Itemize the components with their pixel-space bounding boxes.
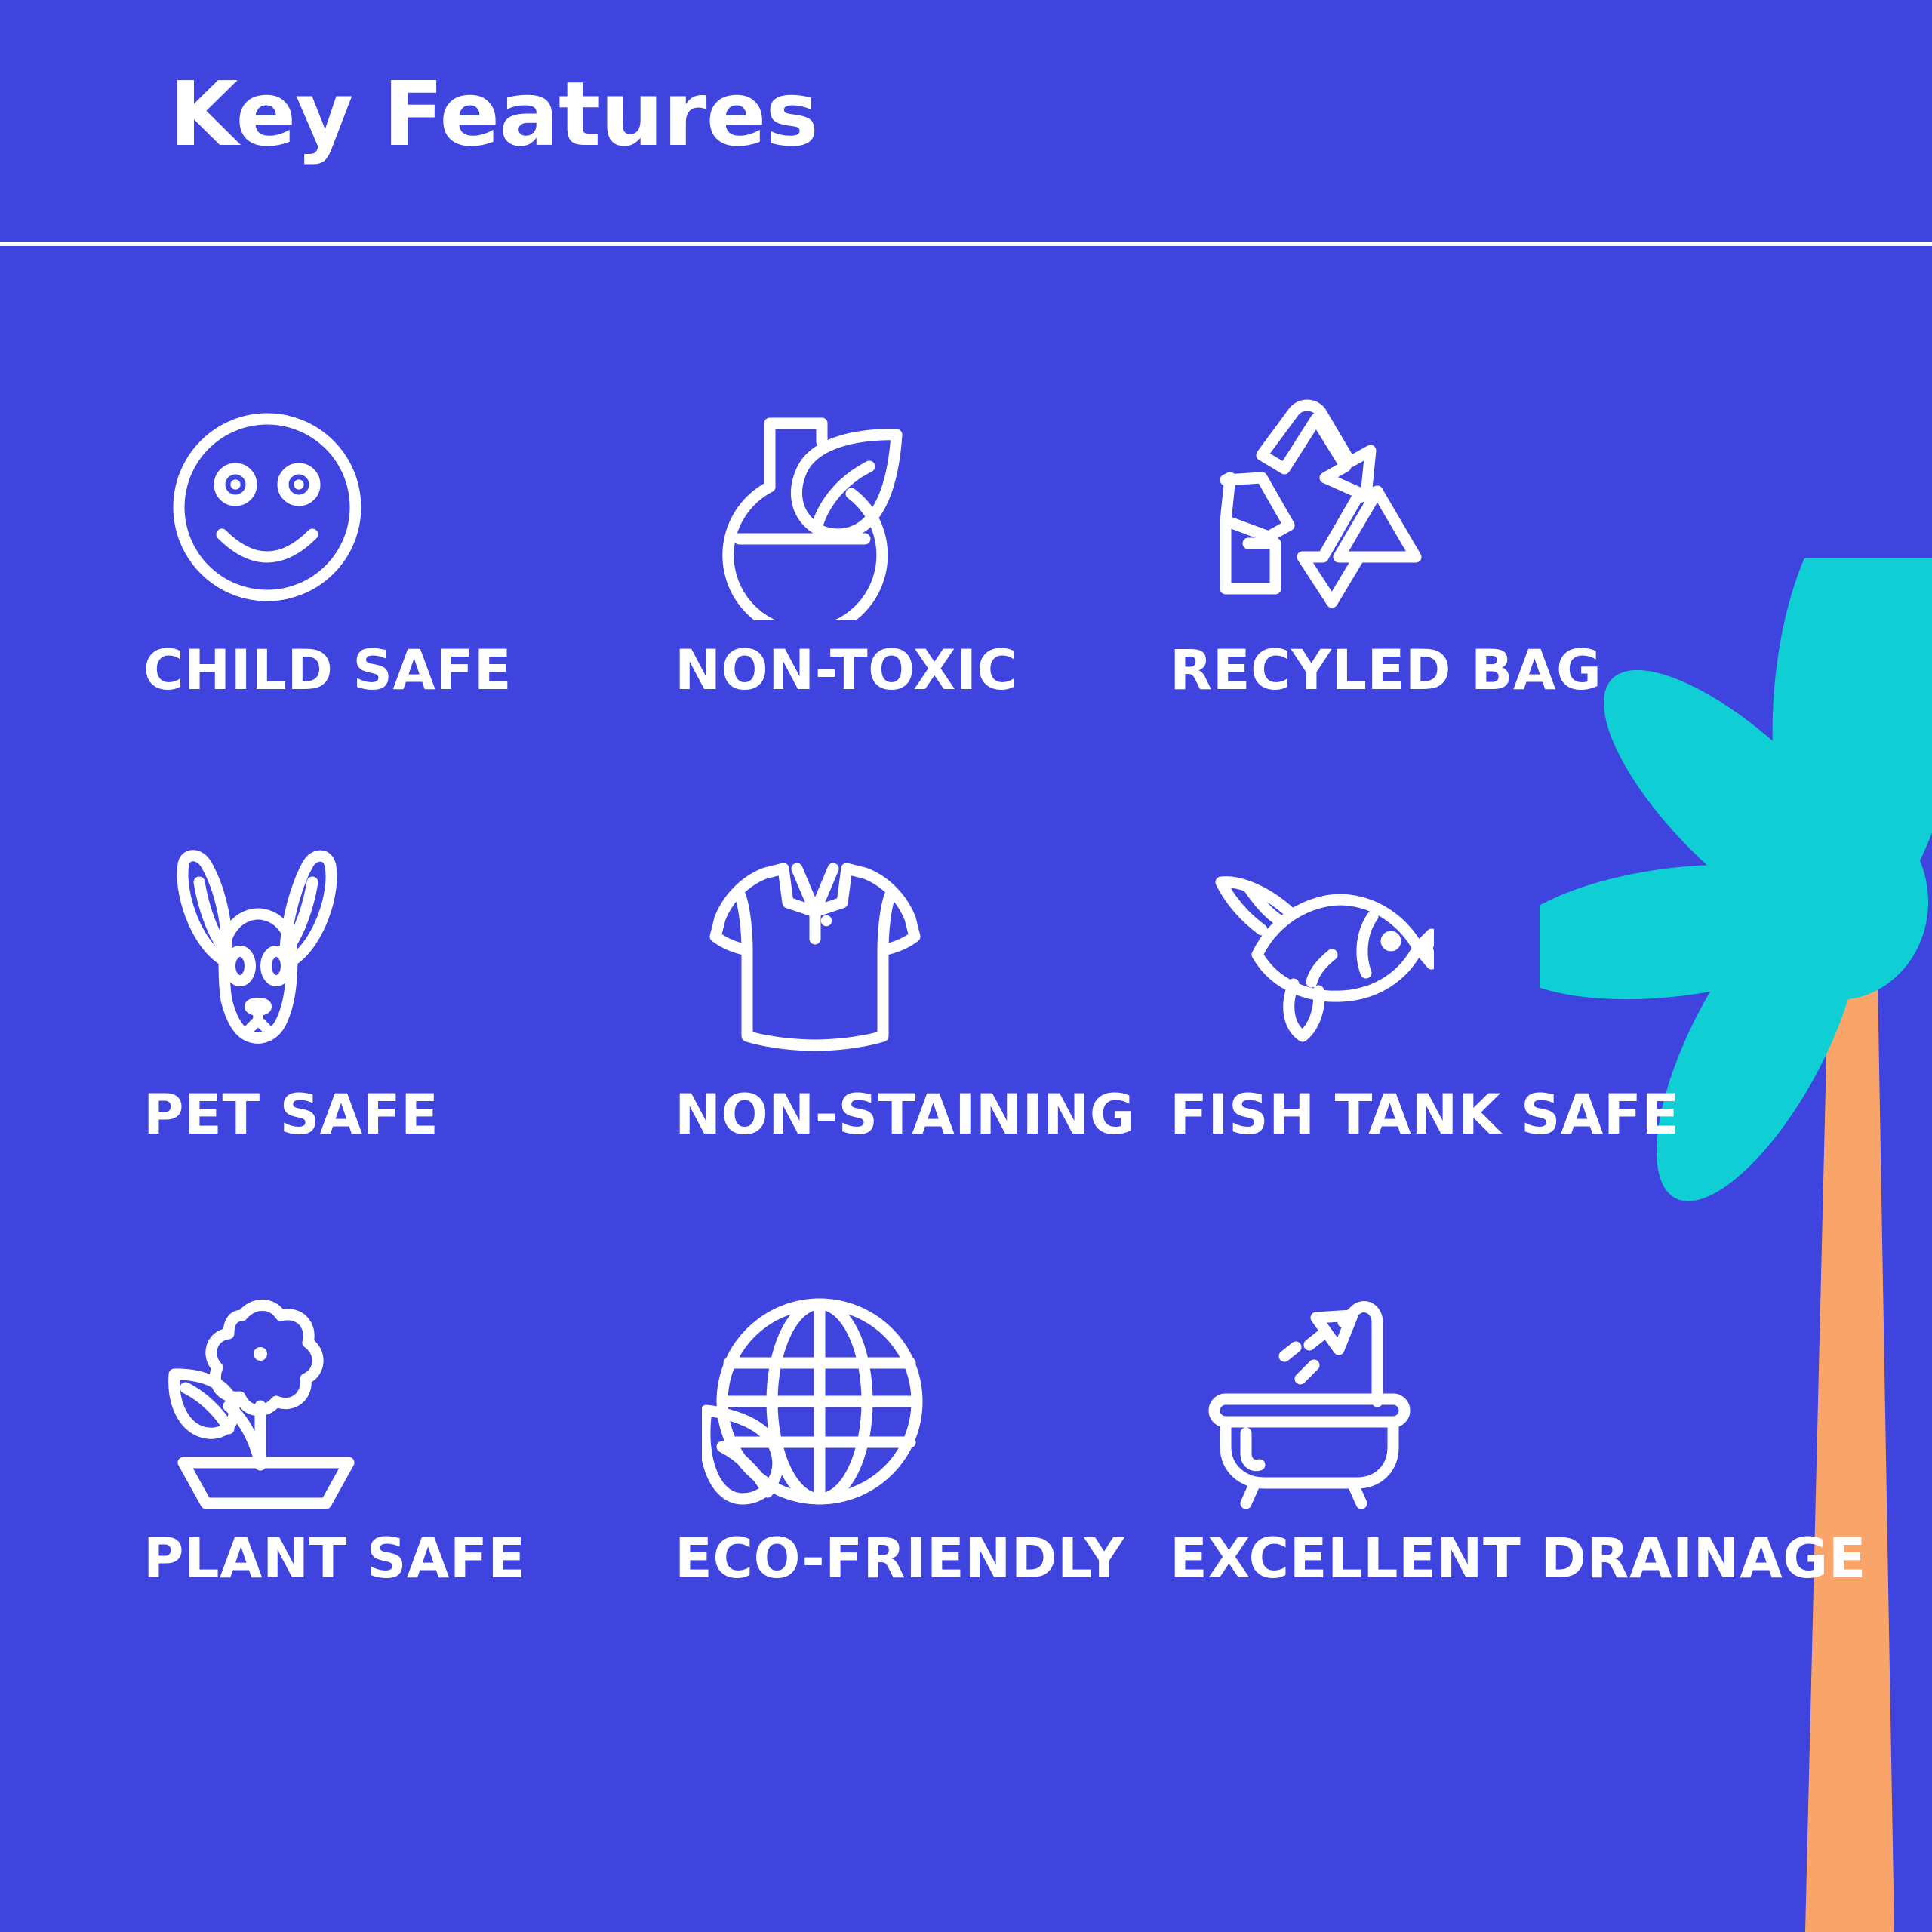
- flask-leaf-icon: [702, 394, 928, 620]
- feature-item-pet-safe[interactable]: PET SAFE: [143, 841, 657, 1289]
- feature-label: NON-TOXIC: [675, 643, 1018, 698]
- bathtub-shower-icon: [1207, 1288, 1434, 1515]
- globe-leaf-icon: [702, 1288, 928, 1515]
- feature-label: ECO-FRIENDLY: [675, 1531, 1124, 1586]
- feature-label: RECYLED BAG: [1170, 643, 1601, 698]
- feature-label: EXCELLENT DRAINAGE: [1170, 1531, 1866, 1586]
- feature-item-child-safe[interactable]: CHILD SAFE: [143, 394, 657, 841]
- recycle-icon: [1207, 394, 1434, 620]
- feature-item-plant-safe[interactable]: PLANT SAFE: [143, 1288, 657, 1736]
- polo-shirt-icon: [702, 841, 928, 1068]
- feature-label: FISH TANK SAFE: [1170, 1088, 1680, 1143]
- potted-flower-icon: [154, 1288, 380, 1515]
- smiley-face-icon: [154, 394, 380, 620]
- page-title: Key Features: [169, 69, 818, 158]
- header: Key Features: [0, 0, 1932, 243]
- fish-icon: [1207, 841, 1434, 1068]
- rabbit-head-icon: [154, 841, 380, 1068]
- feature-label: PET SAFE: [143, 1088, 438, 1143]
- feature-label: NON-STAINING: [675, 1088, 1135, 1143]
- feature-item-non-toxic[interactable]: NON-TOXIC: [657, 394, 1170, 841]
- feature-item-recyled-bag[interactable]: RECYLED BAG: [1170, 394, 1743, 841]
- feature-item-eco-friendly[interactable]: ECO-FRIENDLY: [657, 1288, 1170, 1736]
- feature-item-excellent-drainage[interactable]: EXCELLENT DRAINAGE: [1170, 1288, 1743, 1736]
- feature-item-non-staining[interactable]: NON-STAINING: [657, 841, 1170, 1289]
- feature-grid: CHILD SAFE NON-TOXIC: [0, 243, 1932, 1932]
- feature-label: CHILD SAFE: [143, 643, 512, 698]
- feature-item-fish-tank-safe[interactable]: FISH TANK SAFE: [1170, 841, 1743, 1289]
- feature-label: PLANT SAFE: [143, 1531, 526, 1586]
